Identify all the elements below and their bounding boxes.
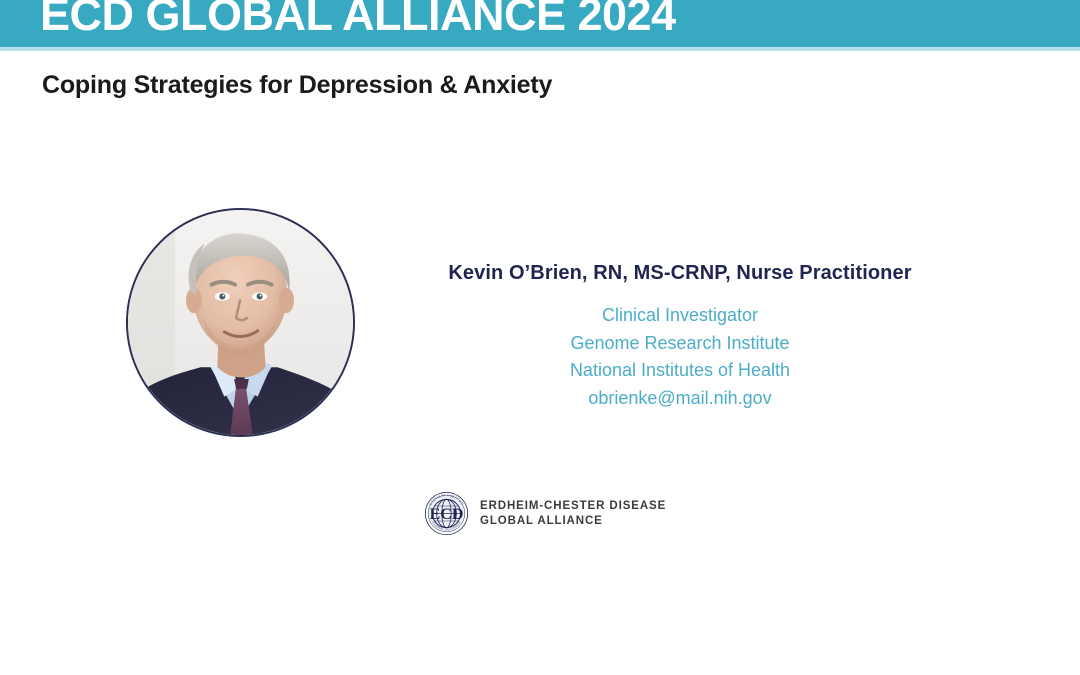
slide-subtitle: Coping Strategies for Depression & Anxie… [42,71,552,100]
speaker-email[interactable]: obrienke@mail.nih.gov [380,385,980,413]
portrait-image [128,210,353,435]
banner-underline-divider [0,47,1080,51]
speaker-affiliation-list: Clinical Investigator Genome Research In… [380,302,980,412]
organization-name-line2: GLOBAL ALLIANCE [480,514,666,529]
svg-text:ECD: ECD [430,506,464,523]
organization-name-line1: ERDHEIM-CHESTER DISEASE [480,499,666,514]
organization-logo-lockup: ECD ERDHEIM-CHESTER GLOBAL ALLIANCE ERDH… [423,490,666,537]
organization-name: ERDHEIM-CHESTER DISEASE GLOBAL ALLIANCE [480,499,666,529]
banner-title: ECD GLOBAL ALLIANCE 2024 [40,0,676,42]
header-banner: ECD GLOBAL ALLIANCE 2024 [0,0,1080,47]
speaker-info-block: Kevin O’Brien, RN, MS-CRNP, Nurse Practi… [380,260,980,412]
affiliation-organization: National Institutes of Health [380,357,980,385]
affiliation-institute: Genome Research Institute [380,330,980,358]
affiliation-role: Clinical Investigator [380,302,980,330]
speaker-portrait [126,208,355,437]
speaker-name: Kevin O’Brien, RN, MS-CRNP, Nurse Practi… [380,260,980,286]
ecd-seal-icon: ECD ERDHEIM-CHESTER GLOBAL ALLIANCE [423,490,470,537]
